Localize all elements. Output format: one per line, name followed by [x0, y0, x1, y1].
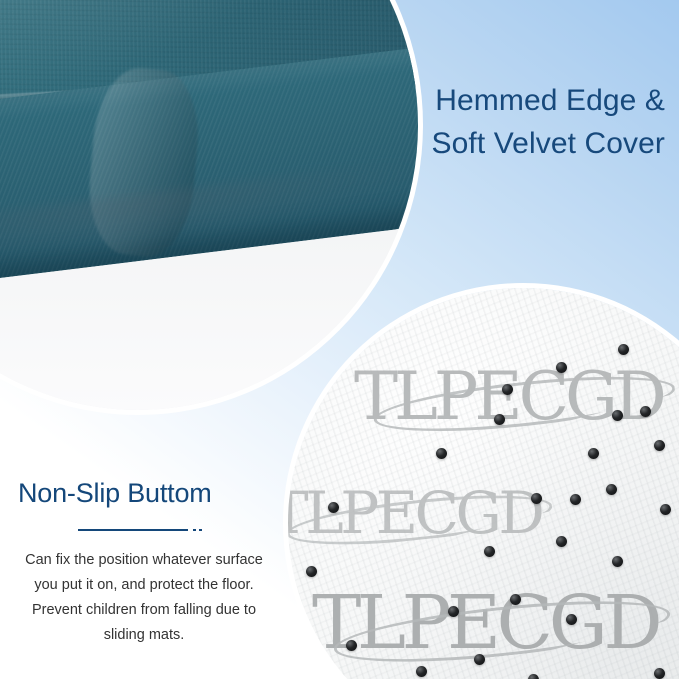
- anti-slip-dot: [588, 448, 599, 459]
- anti-slip-dot: [654, 668, 665, 679]
- anti-slip-dot: [528, 674, 539, 679]
- anti-slip-dot: [510, 594, 521, 605]
- anti-slip-dot: [556, 362, 567, 373]
- divider-dot: [199, 529, 202, 531]
- feature-description-line: Prevent children from falling due to: [18, 598, 270, 623]
- anti-slip-dot: [674, 328, 679, 339]
- anti-slip-dot: [556, 536, 567, 547]
- non-slip-mat-photo-panel: TLPECGD TLPECGD TLPECGD: [288, 288, 679, 679]
- feature-block: Non-Slip Buttom Can fix the position wha…: [18, 478, 270, 648]
- feature-description-line: Can fix the position whatever surface: [18, 548, 270, 573]
- anti-slip-dot: [570, 494, 581, 505]
- anti-slip-dot: [531, 493, 542, 504]
- divider-dot: [193, 529, 196, 531]
- anti-slip-dot: [306, 566, 317, 577]
- anti-slip-dot: [612, 556, 623, 567]
- anti-slip-dot: [654, 440, 665, 451]
- headline-line-1: Hemmed Edge &: [432, 80, 665, 123]
- anti-slip-dot: [448, 606, 459, 617]
- anti-slip-dot: [502, 384, 513, 395]
- anti-slip-dot: [494, 414, 505, 425]
- feature-description-line: you put it on, and protect the floor.: [18, 573, 270, 598]
- page-headline: Hemmed Edge & Soft Velvet Cover: [432, 80, 665, 165]
- title-divider: [78, 526, 270, 534]
- brand-wordmark: TLPECGD: [288, 484, 541, 542]
- brand-wordmark: TLPECGD: [312, 586, 658, 660]
- product-feature-graphic: TLPECGD TLPECGD TLPECGD Hemmed Edge & So…: [0, 0, 679, 679]
- anti-slip-dot: [484, 546, 495, 557]
- anti-slip-dot: [416, 666, 427, 677]
- anti-slip-dot: [328, 502, 339, 513]
- anti-slip-dot: [436, 448, 447, 459]
- anti-slip-dot: [474, 654, 485, 665]
- anti-slip-dot: [640, 406, 651, 417]
- anti-slip-dot: [346, 640, 357, 651]
- divider-rule: [78, 529, 188, 531]
- feature-description-line: sliding mats.: [18, 623, 270, 648]
- anti-slip-dot: [618, 344, 629, 355]
- anti-slip-dot: [612, 410, 623, 421]
- anti-slip-dot: [566, 614, 577, 625]
- feature-description: Can fix the position whatever surface yo…: [18, 548, 270, 648]
- feature-title: Non-Slip Buttom: [18, 478, 270, 509]
- anti-slip-dot: [606, 484, 617, 495]
- anti-slip-dot: [660, 504, 671, 515]
- headline-line-2: Soft Velvet Cover: [432, 123, 665, 166]
